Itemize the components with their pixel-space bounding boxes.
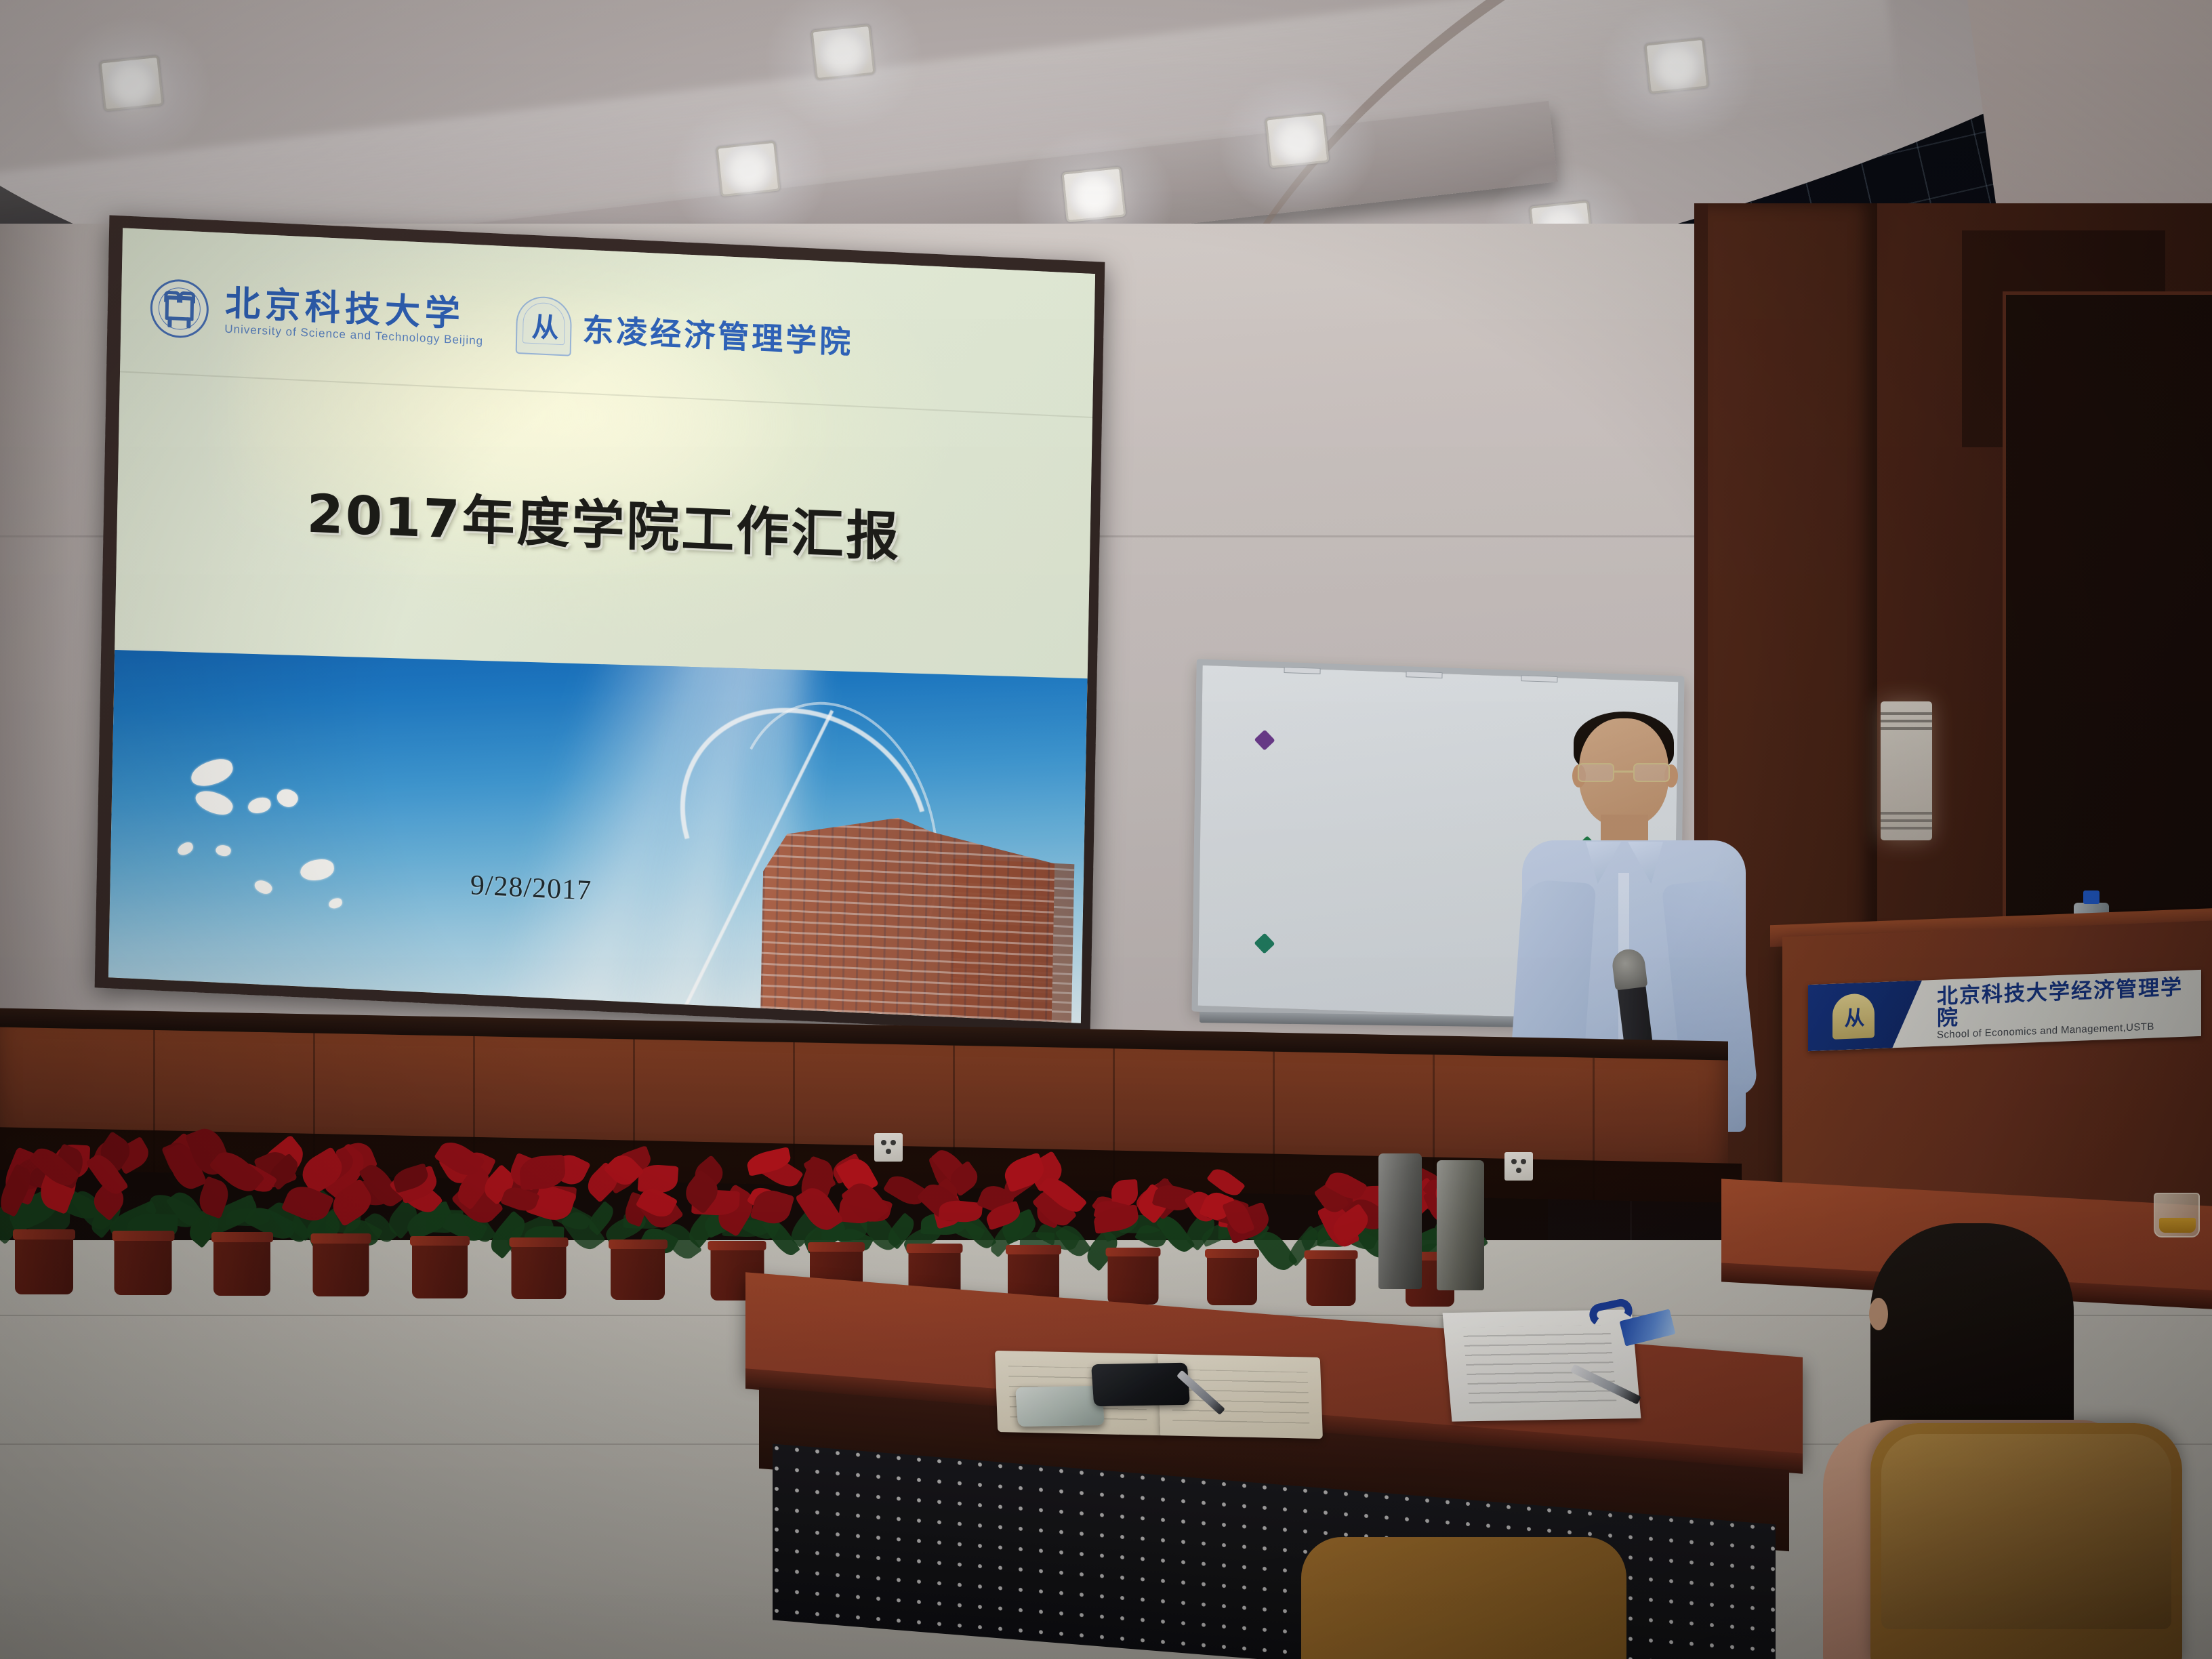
ceiling-spotlight (1061, 167, 1126, 223)
ceiling-spotlight (811, 24, 875, 81)
projected-slide: 北京科技大学 University of Science and Technol… (108, 228, 1095, 1023)
poinsettia-plant (977, 1153, 1090, 1303)
wall-sconce-light-icon (1881, 701, 1932, 840)
dove-icon (176, 840, 194, 857)
flower-pot (1207, 1249, 1257, 1305)
tea-mug[interactable] (2154, 1193, 2200, 1237)
school-seal-mark: 从 (1845, 1001, 1863, 1031)
flower-pot (115, 1231, 172, 1295)
ceiling-spotlight (1265, 112, 1329, 169)
school-seal-mark: 从 (531, 314, 556, 342)
poinsettia-plant (1176, 1159, 1288, 1305)
school-seal-icon: 从 (1832, 993, 1875, 1039)
whiteboard-magnet[interactable] (1254, 729, 1275, 750)
audience-chair[interactable] (1301, 1537, 1626, 1659)
poinsettia-plant (1077, 1156, 1189, 1305)
slide-lower-image: 9/28/2017 (108, 633, 1088, 1023)
flower-pot (512, 1237, 567, 1299)
flower-pot (1306, 1250, 1355, 1306)
dove-icon (247, 797, 272, 815)
dove-icon (274, 785, 301, 811)
flower-pot (611, 1240, 665, 1300)
ceiling-spotlight (99, 56, 163, 112)
dove-icon (328, 897, 344, 909)
wall-power-outlet-icon (1504, 1152, 1533, 1181)
dove-icon (193, 785, 236, 820)
phone-white[interactable] (1015, 1386, 1105, 1427)
school-seal-icon: 从 (516, 295, 573, 356)
nameplate-text: 北京科技大学经济管理学院 School of Economics and Man… (1937, 975, 2201, 1040)
university-name-block: 北京科技大学 University of Science and Technol… (224, 285, 484, 348)
lecture-hall-photo: 北京科技大学 University of Science and Technol… (0, 0, 2212, 1659)
whiteboard-clip (1406, 671, 1442, 678)
attendee-ear (1869, 1298, 1888, 1330)
dove-icon (299, 858, 335, 882)
dove-icon (188, 756, 236, 790)
flower-pot (213, 1232, 270, 1296)
ceiling-spotlight (716, 141, 780, 197)
phone-black[interactable] (1091, 1363, 1190, 1407)
slide-date: 9/28/2017 (470, 869, 592, 907)
flower-pot (15, 1229, 73, 1294)
flower-pot (1107, 1248, 1158, 1305)
dove-icon (252, 878, 273, 897)
flower-pot (412, 1236, 468, 1298)
thermos-flask[interactable] (1378, 1153, 1422, 1289)
thermos-flask[interactable] (1437, 1160, 1484, 1290)
ding-vessel-icon (165, 295, 194, 321)
whiteboard-clip (1521, 675, 1557, 682)
ustb-seal-icon (150, 278, 209, 339)
flower-pot (312, 1233, 369, 1296)
audience-chair[interactable] (1870, 1423, 2182, 1659)
whiteboard-magnet[interactable] (1254, 933, 1275, 954)
lanyard-badge[interactable] (1589, 1301, 1671, 1339)
whiteboard-clip (1284, 667, 1320, 674)
school-name-cn: 东凌经济管理学院 (582, 305, 854, 363)
poinsettia-plant (877, 1150, 992, 1302)
projection-screen: 北京科技大学 University of Science and Technol… (95, 215, 1105, 1034)
ceiling-spotlight (1644, 38, 1708, 94)
wall-power-outlet-icon (874, 1133, 903, 1162)
poinsettia-plant (1276, 1162, 1386, 1306)
poinsettia-bloom (637, 1164, 678, 1194)
eyeglasses-icon (1578, 763, 1670, 783)
dove-icon (215, 843, 232, 857)
